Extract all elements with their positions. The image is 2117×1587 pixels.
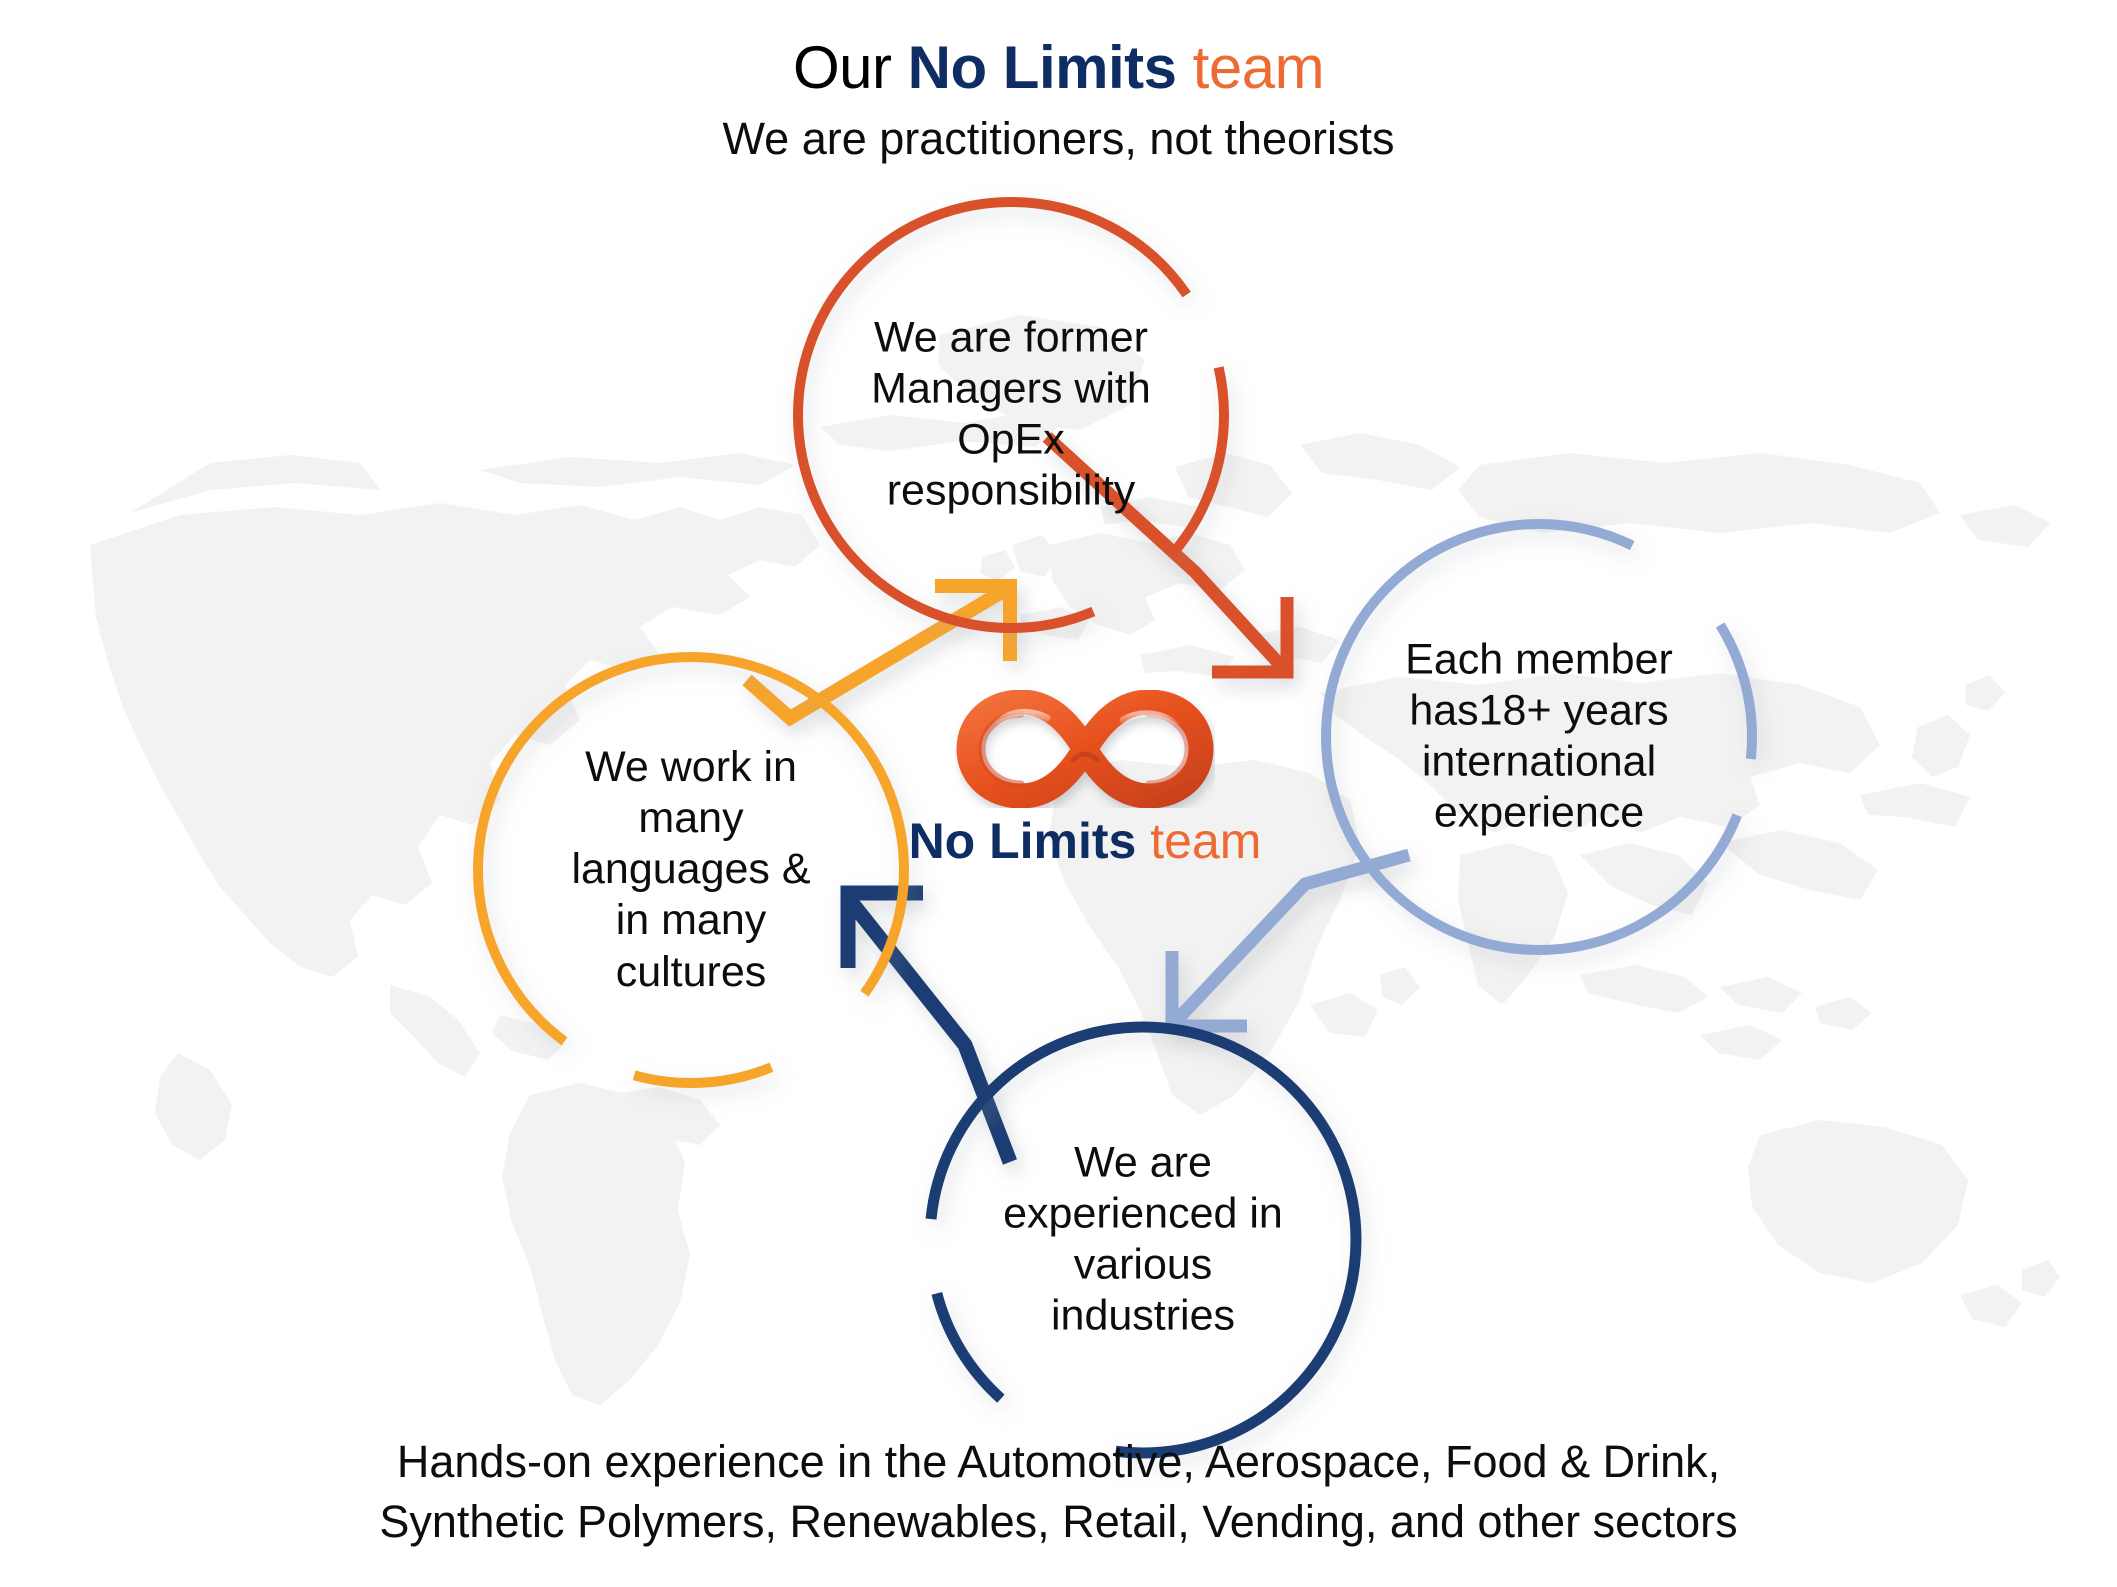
bubble-right-text: Each member has18+ years international e… — [1346, 635, 1733, 840]
page-subtitle: We are practitioners, not theorists — [0, 113, 2117, 165]
bubble-right-line-2: has18+ years — [1346, 686, 1733, 737]
center-brand-suffix: team — [1136, 813, 1261, 869]
bubble-bottom-line-4: industries — [954, 1291, 1332, 1342]
bubble-bottom-line-2: experienced in — [954, 1189, 1332, 1240]
bubble-left-text: We work in many languages & in many cult… — [520, 742, 862, 998]
bubble-bottom[interactable]: We are experienced in various industries — [918, 1015, 1368, 1465]
bubble-left[interactable]: We work in many languages & in many cult… — [466, 645, 916, 1095]
title-prefix: Our — [793, 34, 908, 101]
bubble-top-line-3: OpEx — [827, 415, 1196, 466]
infinity-logo-icon — [955, 690, 1215, 808]
bubble-right-line-3: international — [1346, 737, 1733, 788]
bubble-bottom-line-1: We are — [954, 1138, 1332, 1189]
slide-canvas: Our No Limits team We are practitioners,… — [0, 0, 2117, 1587]
bubble-right[interactable]: Each member has18+ years international e… — [1314, 512, 1764, 962]
bubble-bottom-line-3: various — [954, 1240, 1332, 1291]
bubble-bottom-text: We are experienced in various industries — [954, 1138, 1332, 1343]
title-brand: No Limits — [908, 34, 1177, 101]
bubble-top-line-1: We are former — [827, 313, 1196, 364]
bubble-left-line-5: cultures — [520, 947, 862, 998]
bubble-right-line-1: Each member — [1346, 635, 1733, 686]
title-suffix: team — [1176, 34, 1324, 101]
bubble-left-line-3: languages & — [520, 844, 862, 895]
bubble-top[interactable]: We are former Managers with OpEx respons… — [786, 190, 1236, 640]
bubble-top-line-2: Managers with — [827, 364, 1196, 415]
bubble-top-line-4: responsibility — [827, 466, 1196, 517]
footer-line-1: Hands-on experience in the Automotive, A… — [0, 1432, 2117, 1492]
bubble-left-line-1: We work in — [520, 742, 862, 793]
bubble-right-line-4: experience — [1346, 788, 1733, 839]
bubble-left-line-2: many — [520, 793, 862, 844]
footer-line-2: Synthetic Polymers, Renewables, Retail, … — [0, 1492, 2117, 1552]
center-brand: No Limits — [909, 813, 1137, 869]
page-title: Our No Limits team — [0, 36, 2117, 99]
center-brand-label: No Limits team — [820, 812, 1350, 870]
bubble-top-text: We are former Managers with OpEx respons… — [827, 313, 1196, 518]
footer-caption: Hands-on experience in the Automotive, A… — [0, 1432, 2117, 1552]
bubble-left-line-4: in many — [520, 896, 862, 947]
